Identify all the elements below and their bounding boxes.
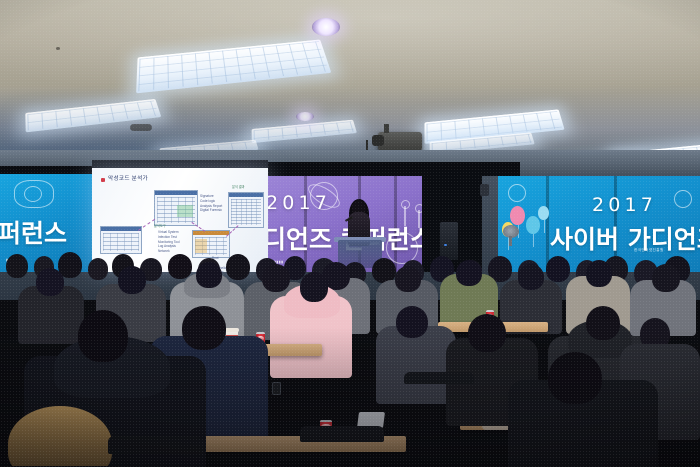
node-titlebar [101, 227, 141, 231]
photo-scene: 퍼런스 ▮▮▮▮▮ 악성코드 분석가 [0, 0, 700, 467]
audience-head [88, 258, 108, 280]
chair-back [108, 436, 204, 454]
slide-caption-result: 분석 결과 [232, 185, 245, 190]
audience-head [518, 264, 544, 290]
cup-lid [225, 328, 239, 332]
wall-speaker [480, 184, 489, 196]
projector-mount [384, 124, 389, 133]
ceiling-sprinkler [56, 47, 60, 50]
audience-head [395, 266, 421, 292]
ceiling-downlight [312, 18, 340, 36]
audience-head [182, 306, 226, 350]
audience-head [652, 264, 680, 292]
projector-lens-icon [372, 135, 384, 146]
banner-art-figure-head [401, 200, 410, 209]
audience-head [36, 268, 64, 296]
node-titlebar [229, 193, 263, 197]
audience-head [548, 352, 602, 404]
ceiling-vent [130, 124, 152, 131]
audience-head [468, 314, 506, 352]
audience-head [300, 272, 328, 302]
slide-title: 악성코드 분석가 [108, 174, 148, 182]
banner-art-circle [24, 186, 42, 202]
slide-bullet-icon [101, 178, 105, 182]
banner-art-flower [674, 190, 692, 208]
slide-connector [138, 219, 155, 231]
audience-head [118, 266, 146, 294]
banner-right-year: 2017 [592, 194, 657, 216]
chair-back [300, 426, 384, 442]
node-titlebar [155, 191, 197, 195]
audience-head [196, 262, 222, 288]
balloon-lightblue [538, 206, 549, 220]
audience-head [586, 260, 612, 287]
node-grid [231, 199, 261, 225]
audience-head [456, 260, 482, 286]
audience-head [226, 254, 250, 280]
ceiling-downlight [296, 112, 314, 121]
chair-back [404, 372, 474, 384]
stage-shadow-center [268, 162, 520, 176]
banner-art-figure-head [415, 204, 422, 213]
banner-center-year: 2017 [268, 192, 331, 214]
audience-head [78, 310, 128, 362]
slide-node-4 [228, 192, 264, 228]
projector [378, 132, 422, 151]
smartphone[interactable] [272, 382, 281, 395]
node-highlight [177, 205, 193, 217]
audience-head [262, 264, 290, 292]
audience-head [6, 254, 28, 278]
banner-art-flower [508, 184, 526, 202]
audience-head [586, 306, 620, 340]
balloon-pink [510, 206, 525, 225]
slide-caption-tool: 분석도구 [154, 224, 166, 229]
balloon-blue [526, 216, 540, 234]
audience-head [168, 254, 192, 279]
node-titlebar [193, 231, 229, 235]
audience [0, 240, 700, 467]
audience-head [546, 256, 570, 282]
slide-caption-right: Signature Code logic Analysis Report Dig… [200, 194, 222, 213]
audience-head [396, 306, 428, 338]
